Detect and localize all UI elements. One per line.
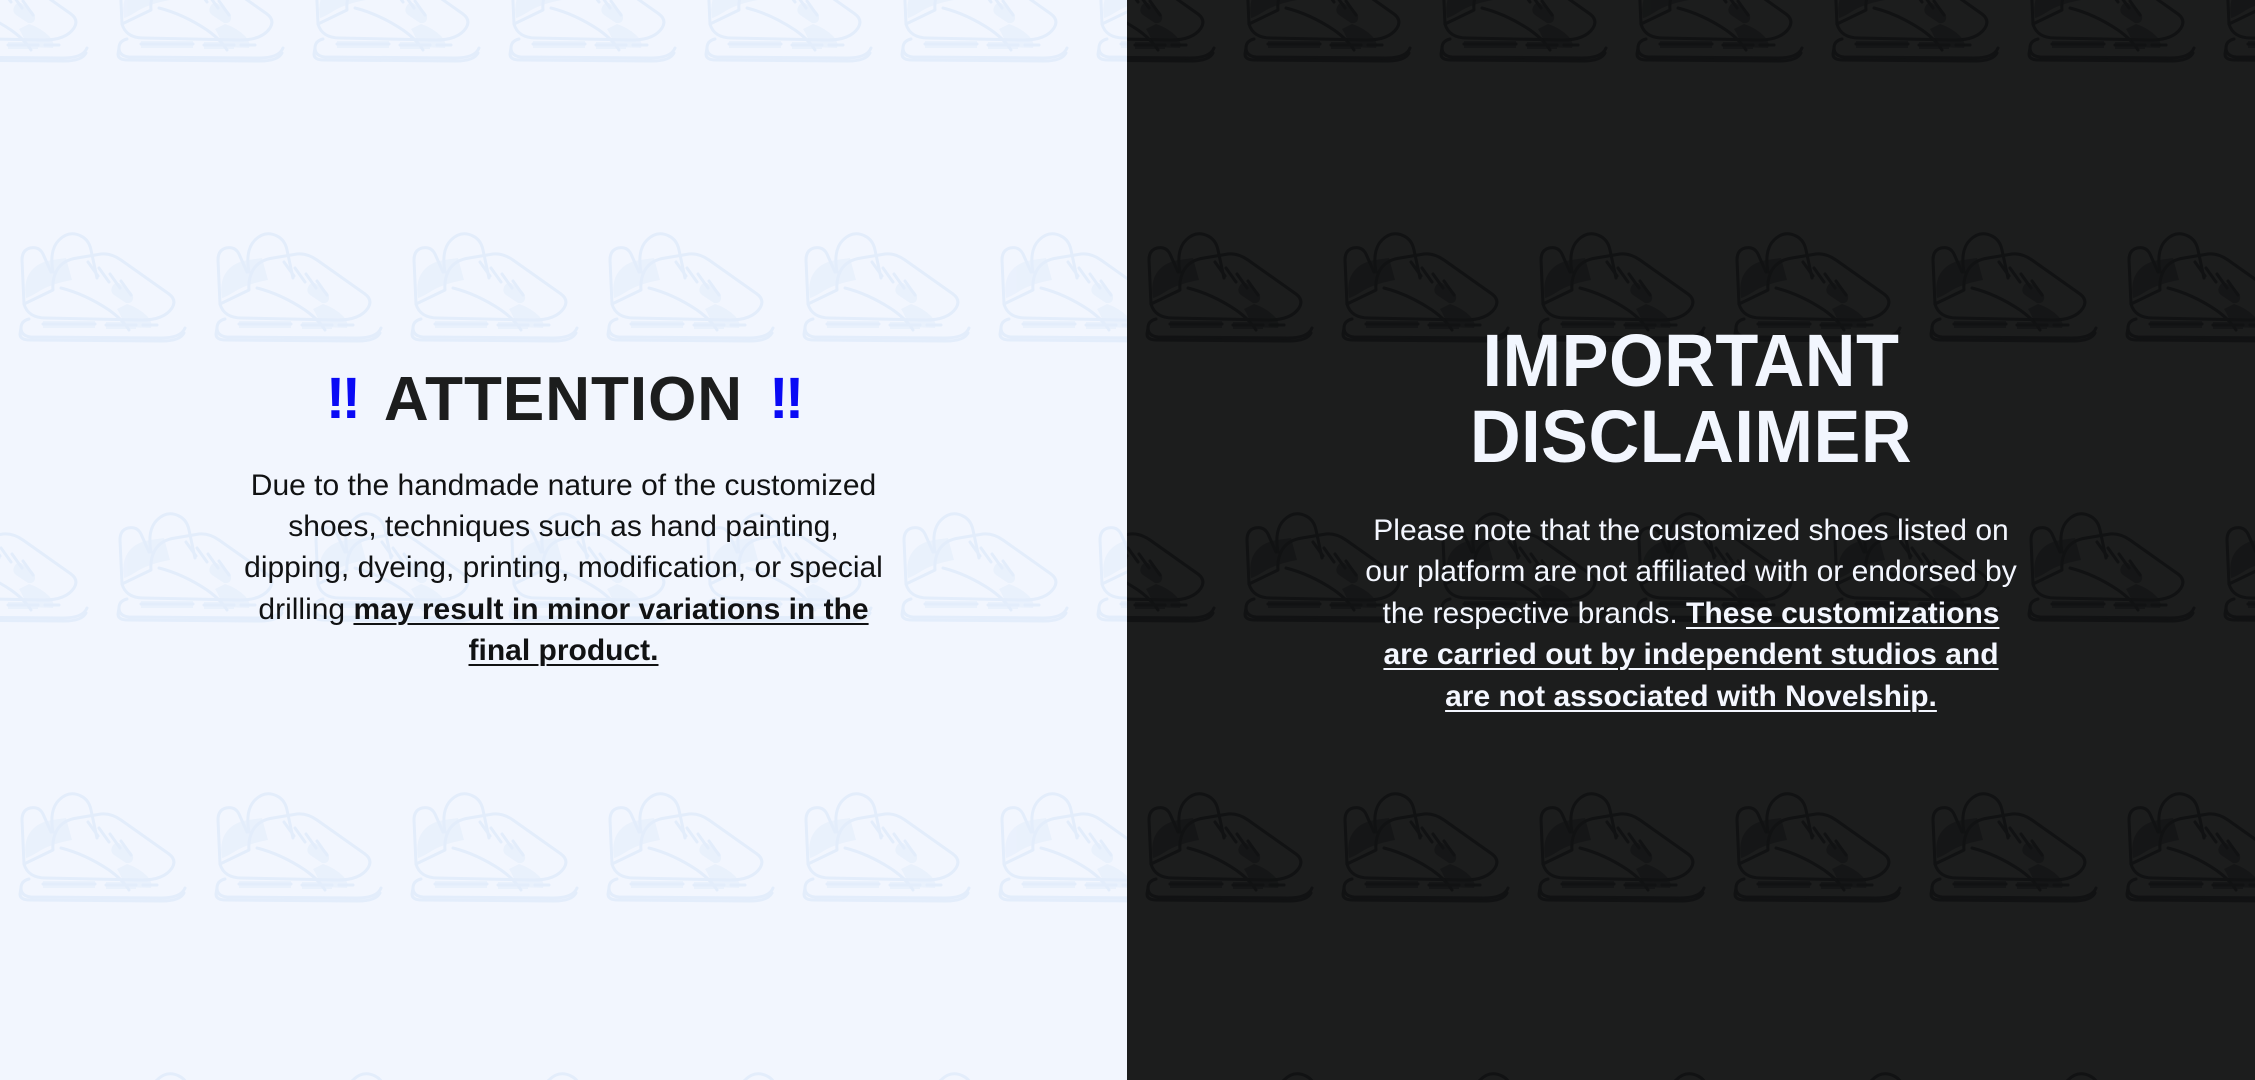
sneaker-icon <box>1076 1052 1127 1080</box>
sneaker-icon <box>1615 0 1811 68</box>
sneaker-icon <box>0 1052 96 1080</box>
sneaker-icon <box>0 212 194 348</box>
attention-panel: ‼ATTENTION‼ Due to the handmade nature o… <box>0 0 1127 1080</box>
disclaimer-banner: ‼ATTENTION‼ Due to the handmade nature o… <box>0 0 2255 1080</box>
attention-heading-text: ATTENTION <box>384 365 743 434</box>
sneaker-icon <box>1517 772 1713 908</box>
double-exclamation-icon-left: ‼ <box>326 366 358 431</box>
sneaker-icon <box>96 1052 292 1080</box>
sneaker-icon <box>2203 0 2255 68</box>
pattern-row <box>1127 980 2255 1080</box>
disclaimer-body: Please note that the customized shoes li… <box>1361 510 2021 717</box>
sneaker-icon <box>1321 772 1517 908</box>
disclaimer-heading: IMPORTANT DISCLAIMER <box>1298 323 2085 474</box>
sneaker-icon <box>0 772 194 908</box>
disclaimer-content: IMPORTANT DISCLAIMER Please note that th… <box>1127 323 2255 717</box>
sneaker-icon <box>1811 1052 2007 1080</box>
sneaker-icon <box>684 1052 880 1080</box>
pattern-row <box>0 700 1127 980</box>
sneaker-icon <box>292 0 488 68</box>
attention-heading: ‼ATTENTION‼ <box>150 369 977 431</box>
sneaker-icon <box>390 212 586 348</box>
sneaker-icon <box>684 0 880 68</box>
sneaker-icon <box>1811 0 2007 68</box>
sneaker-icon <box>2007 0 2203 68</box>
sneaker-icon <box>292 1052 488 1080</box>
pattern-row <box>0 980 1127 1080</box>
sneaker-icon <box>96 0 292 68</box>
sneaker-icon <box>1223 1052 1419 1080</box>
sneaker-icon <box>1419 1052 1615 1080</box>
sneaker-icon <box>1419 0 1615 68</box>
sneaker-icon <box>586 212 782 348</box>
sneaker-icon <box>1076 0 1127 68</box>
sneaker-icon <box>390 772 586 908</box>
sneaker-icon <box>194 772 390 908</box>
sneaker-icon <box>0 0 96 68</box>
sneaker-icon <box>586 772 782 908</box>
sneaker-icon <box>2007 1052 2203 1080</box>
sneaker-icon <box>1127 0 1223 68</box>
double-exclamation-icon-right: ‼ <box>769 366 801 431</box>
disclaimer-panel: IMPORTANT DISCLAIMER Please note that th… <box>1127 0 2255 1080</box>
pattern-row <box>0 0 1127 140</box>
attention-content: ‼ATTENTION‼ Due to the handmade nature o… <box>0 369 1127 672</box>
sneaker-icon <box>488 1052 684 1080</box>
sneaker-icon <box>782 212 978 348</box>
sneaker-icon <box>782 772 978 908</box>
sneaker-icon <box>1909 772 2105 908</box>
sneaker-icon <box>2203 1052 2255 1080</box>
disclaimer-heading-line1: IMPORTANT <box>1483 319 1900 402</box>
pattern-row <box>1127 0 2255 140</box>
sneaker-icon <box>1127 1052 1223 1080</box>
sneaker-icon <box>1127 772 1321 908</box>
disclaimer-heading-line2: DISCLAIMER <box>1470 395 1912 478</box>
sneaker-icon <box>880 0 1076 68</box>
sneaker-icon <box>1223 0 1419 68</box>
sneaker-icon <box>1713 772 1909 908</box>
pattern-row <box>1127 700 2255 980</box>
sneaker-icon <box>2105 772 2255 908</box>
sneaker-icon <box>978 772 1127 908</box>
attention-body: Due to the handmade nature of the custom… <box>244 465 884 672</box>
sneaker-icon <box>978 212 1127 348</box>
attention-body-emphasis: may result in minor variations in the fi… <box>353 593 868 667</box>
sneaker-icon <box>1615 1052 1811 1080</box>
sneaker-icon <box>880 1052 1076 1080</box>
sneaker-icon <box>488 0 684 68</box>
sneaker-icon <box>194 212 390 348</box>
